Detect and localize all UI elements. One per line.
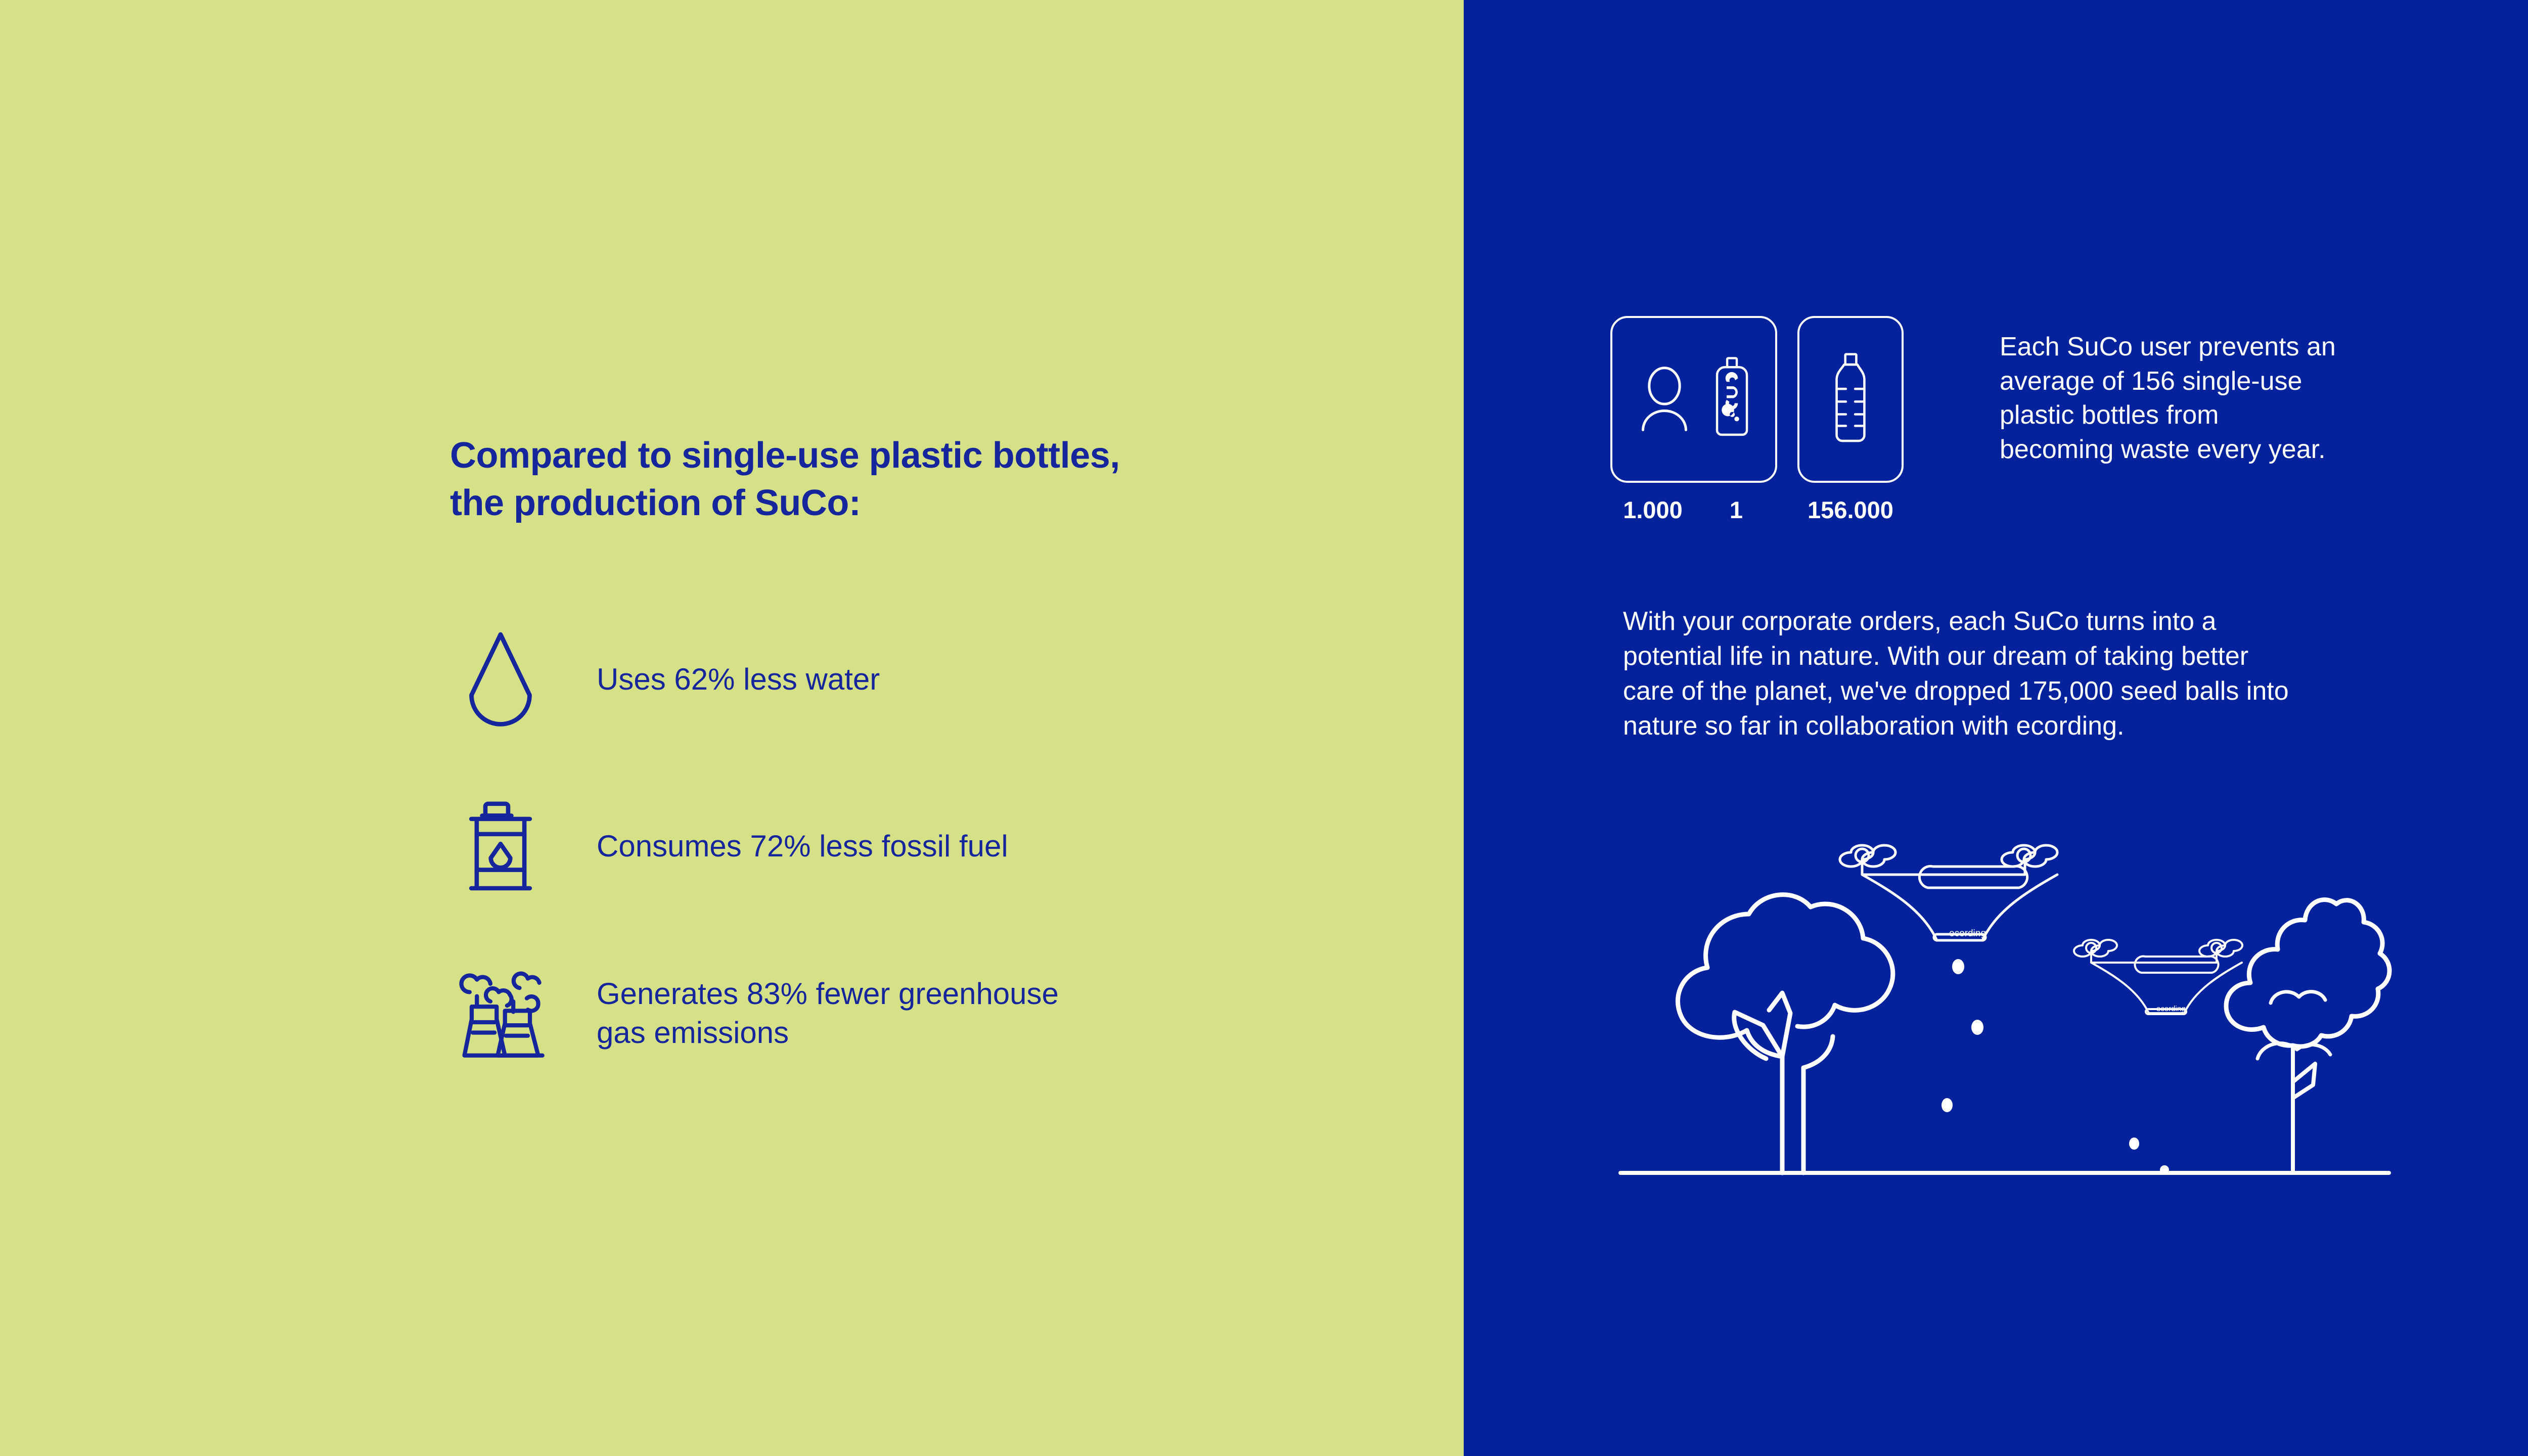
list-item-label: Uses 62% less water: [597, 660, 880, 699]
drone-brand-label: ecording: [2156, 1005, 2186, 1013]
seed-ball-icon: [1942, 959, 2169, 1174]
conifer-tree-icon: [2226, 900, 2389, 1173]
list-item-label: Generates 83% fewer greenhouse gas emiss…: [597, 975, 1059, 1053]
person-icon: [1636, 365, 1693, 435]
card-plastic-bottles: [1797, 316, 1904, 483]
smokestack-icon: [450, 955, 551, 1072]
stats-description: Each SuCo user prevents an average of 15…: [2000, 316, 2475, 467]
left-content: Compared to single-use plastic bottles, …: [450, 432, 1411, 1116]
drone-icon: ecording: [2074, 940, 2242, 1014]
body-paragraph: With your corporate orders, each SuCo tu…: [1623, 604, 2528, 744]
label-suco-count: 1: [1695, 496, 1777, 524]
infographic-page: Compared to single-use plastic bottles, …: [0, 0, 2528, 1456]
water-drop-icon: [450, 622, 551, 738]
right-panel: 1.000 1: [1464, 0, 2528, 1456]
oil-barrel-icon: [450, 789, 551, 905]
list-item-label: Consumes 72% less fossil fuel: [597, 827, 1008, 866]
stat-labels-duo: 1.000 1: [1610, 496, 1777, 524]
list-item: Generates 83% fewer greenhouse gas emiss…: [450, 949, 1411, 1078]
stat-group-bottles: 156.000: [1777, 316, 1904, 524]
label-users-count: 1.000: [1610, 496, 1695, 524]
page-title: Compared to single-use plastic bottles, …: [450, 432, 1411, 527]
plastic-bottle-icon: [1830, 352, 1871, 447]
drone-icon: ecording: [1840, 845, 2057, 940]
list-item: Uses 62% less water: [450, 615, 1411, 744]
stats-block: 1.000 1: [1610, 316, 2475, 524]
left-panel: Compared to single-use plastic bottles, …: [0, 0, 1464, 1456]
card-users-vs-suco: [1610, 316, 1777, 483]
seed-ball-scene: ecording ecording: [1615, 819, 2404, 1203]
stat-cards: 1.000 1: [1610, 316, 1904, 524]
drone-brand-label: ecording: [1949, 928, 1986, 939]
suco-bottle-icon: [1712, 356, 1751, 443]
label-bottles-count: 156.000: [1797, 496, 1904, 524]
stat-group-users: 1.000 1: [1610, 316, 1777, 524]
benefits-list: Uses 62% less water: [450, 615, 1411, 1078]
list-item: Consumes 72% less fossil fuel: [450, 782, 1411, 911]
broadleaf-tree-icon: [1678, 895, 1892, 1173]
